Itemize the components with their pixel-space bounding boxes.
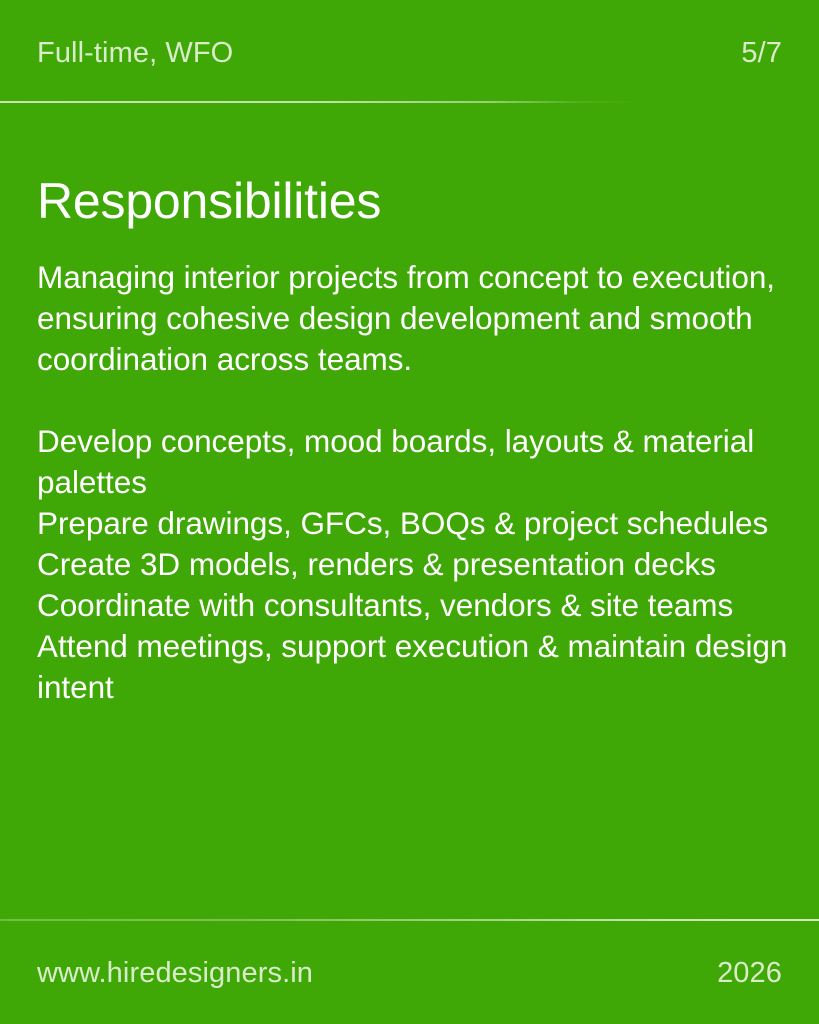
page-title: Responsibilities (37, 172, 793, 231)
page-counter: 5/7 (741, 39, 782, 68)
slide-footer: www.hiredesigners.in 2026 (37, 950, 782, 996)
list-item: Develop concepts, mood boards, layouts &… (37, 421, 793, 503)
list-item: Coordinate with consultants, vendors & s… (37, 585, 793, 626)
job-posting-slide: Full-time, WFO 5/7 Responsibilities Mana… (0, 0, 819, 1024)
slide-content: Responsibilities Managing interior proje… (37, 172, 793, 708)
list-item: Attend meetings, support execution & mai… (37, 626, 793, 708)
list-item: Prepare drawings, GFCs, BOQs & project s… (37, 503, 793, 544)
header-divider (0, 101, 819, 103)
paragraph-spacer (37, 380, 793, 421)
year-label: 2026 (717, 959, 782, 988)
list-item: Create 3D models, renders & presentation… (37, 544, 793, 585)
footer-divider (0, 919, 819, 921)
intro-paragraph: Managing interior projects from concept … (37, 257, 793, 380)
slide-header: Full-time, WFO 5/7 (37, 30, 782, 76)
employment-type-label: Full-time, WFO (37, 39, 233, 68)
website-url[interactable]: www.hiredesigners.in (37, 959, 313, 988)
responsibility-list: Develop concepts, mood boards, layouts &… (37, 421, 793, 708)
